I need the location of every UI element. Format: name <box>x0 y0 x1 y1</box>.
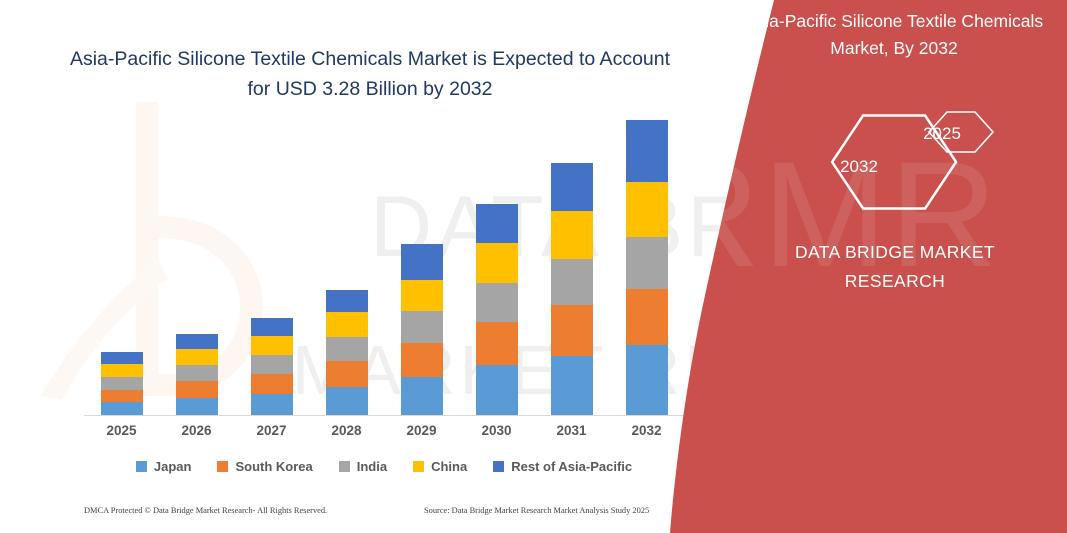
bar-2026 <box>176 334 218 416</box>
bar-2030 <box>476 204 518 416</box>
bar-segment-japan <box>251 394 293 416</box>
x-axis-label-2030: 2030 <box>460 423 534 438</box>
legend-swatch-icon <box>217 461 228 472</box>
bar-segment-china <box>401 280 443 312</box>
x-axis-label-2026: 2026 <box>160 423 234 438</box>
infographic-canvas: DATA BRIDGE MARKET RESEARCH Asia-Pacific… <box>0 0 1067 533</box>
legend-label: Japan <box>154 459 192 474</box>
bar-segment-rest-of-asia-pacific <box>251 318 293 336</box>
bar-segment-japan <box>626 345 668 416</box>
bar-segment-china <box>251 336 293 355</box>
bar-segment-china <box>476 243 518 283</box>
bar-segment-china <box>326 312 368 336</box>
bar-segment-south-korea <box>101 390 143 403</box>
bar-segment-rest-of-asia-pacific <box>476 204 518 243</box>
bar-segment-south-korea <box>401 343 443 377</box>
legend-swatch-icon <box>493 461 504 472</box>
bar-segment-south-korea <box>251 374 293 394</box>
legend-swatch-icon <box>413 461 424 472</box>
bar-segment-south-korea <box>551 305 593 356</box>
bar-2027 <box>251 318 293 416</box>
bar-segment-india <box>176 365 218 381</box>
bar-segment-rest-of-asia-pacific <box>401 244 443 280</box>
bar-segment-india <box>626 237 668 289</box>
bar-segment-japan <box>476 365 518 416</box>
bar-segment-japan <box>176 398 218 416</box>
x-axis-labels: 20252026202720282029203020312032 <box>84 423 684 445</box>
bar-segment-india <box>326 337 368 361</box>
x-axis-label-2031: 2031 <box>535 423 609 438</box>
x-axis-label-2029: 2029 <box>385 423 459 438</box>
bar-segment-japan <box>401 377 443 416</box>
bar-segment-india <box>476 283 518 322</box>
x-axis-label-2027: 2027 <box>235 423 309 438</box>
bar-segment-india <box>251 355 293 374</box>
legend-label: South Korea <box>235 459 312 474</box>
bar-segment-japan <box>326 387 368 416</box>
bar-segment-china <box>551 211 593 259</box>
bar-segment-india <box>551 259 593 306</box>
legend-swatch-icon <box>136 461 147 472</box>
bar-segment-china <box>101 364 143 377</box>
bar-2029 <box>401 244 443 416</box>
bar-segment-japan <box>551 356 593 416</box>
bar-segment-japan <box>101 402 143 416</box>
bar-segment-china <box>176 349 218 365</box>
bar-2032 <box>626 120 668 416</box>
legend-item-south-korea[interactable]: South Korea <box>217 459 312 474</box>
legend-label: China <box>431 459 467 474</box>
legend-item-japan[interactable]: Japan <box>136 459 192 474</box>
x-axis-label-2025: 2025 <box>85 423 159 438</box>
legend-item-india[interactable]: India <box>339 459 387 474</box>
panel-title: Asia-Pacific Silicone Textile Chemicals … <box>744 8 1044 62</box>
bar-segment-rest-of-asia-pacific <box>626 120 668 182</box>
legend-swatch-icon <box>339 461 350 472</box>
bar-2028 <box>326 290 368 416</box>
bar-segment-south-korea <box>626 289 668 345</box>
brand-panel: RMR Asia-Pacific Silicone Textile Chemic… <box>670 0 1067 533</box>
hexagon-group: 2032 2025 <box>798 100 1058 215</box>
bar-segment-south-korea <box>476 322 518 365</box>
chart-legend: JapanSouth KoreaIndiaChinaRest of Asia-P… <box>84 455 684 477</box>
brand-name: DATA BRIDGE MARKET RESEARCH <box>750 238 1040 296</box>
bar-segment-rest-of-asia-pacific <box>101 352 143 365</box>
bar-segment-india <box>101 377 143 390</box>
bar-2025 <box>101 352 143 416</box>
bar-2031 <box>551 163 593 416</box>
bar-segment-china <box>626 182 668 237</box>
brand-line-2: RESEARCH <box>750 267 1040 296</box>
legend-label: Rest of Asia-Pacific <box>511 459 632 474</box>
brand-line-1: DATA BRIDGE MARKET <box>750 238 1040 267</box>
legend-item-rest-of-asia-pacific[interactable]: Rest of Asia-Pacific <box>493 459 632 474</box>
hexagon-label-2025: 2025 <box>902 124 982 144</box>
footer-copyright: DMCA Protected © Data Bridge Market Rese… <box>84 506 327 515</box>
chart-title: Asia-Pacific Silicone Textile Chemicals … <box>60 44 680 104</box>
bar-segment-rest-of-asia-pacific <box>551 163 593 211</box>
bar-segment-south-korea <box>326 361 368 387</box>
bar-segment-rest-of-asia-pacific <box>176 334 218 350</box>
footer-source: Source: Data Bridge Market Research Mark… <box>424 506 649 515</box>
bar-segment-south-korea <box>176 381 218 398</box>
x-axis-line <box>84 415 684 416</box>
hexagon-label-2032: 2032 <box>814 157 904 177</box>
bar-segment-rest-of-asia-pacific <box>326 290 368 312</box>
footer: DMCA Protected © Data Bridge Market Rese… <box>84 506 684 522</box>
stacked-bar-chart-plot <box>84 120 684 416</box>
bar-segment-india <box>401 311 443 343</box>
x-axis-label-2028: 2028 <box>310 423 384 438</box>
legend-label: India <box>357 459 387 474</box>
legend-item-china[interactable]: China <box>413 459 467 474</box>
